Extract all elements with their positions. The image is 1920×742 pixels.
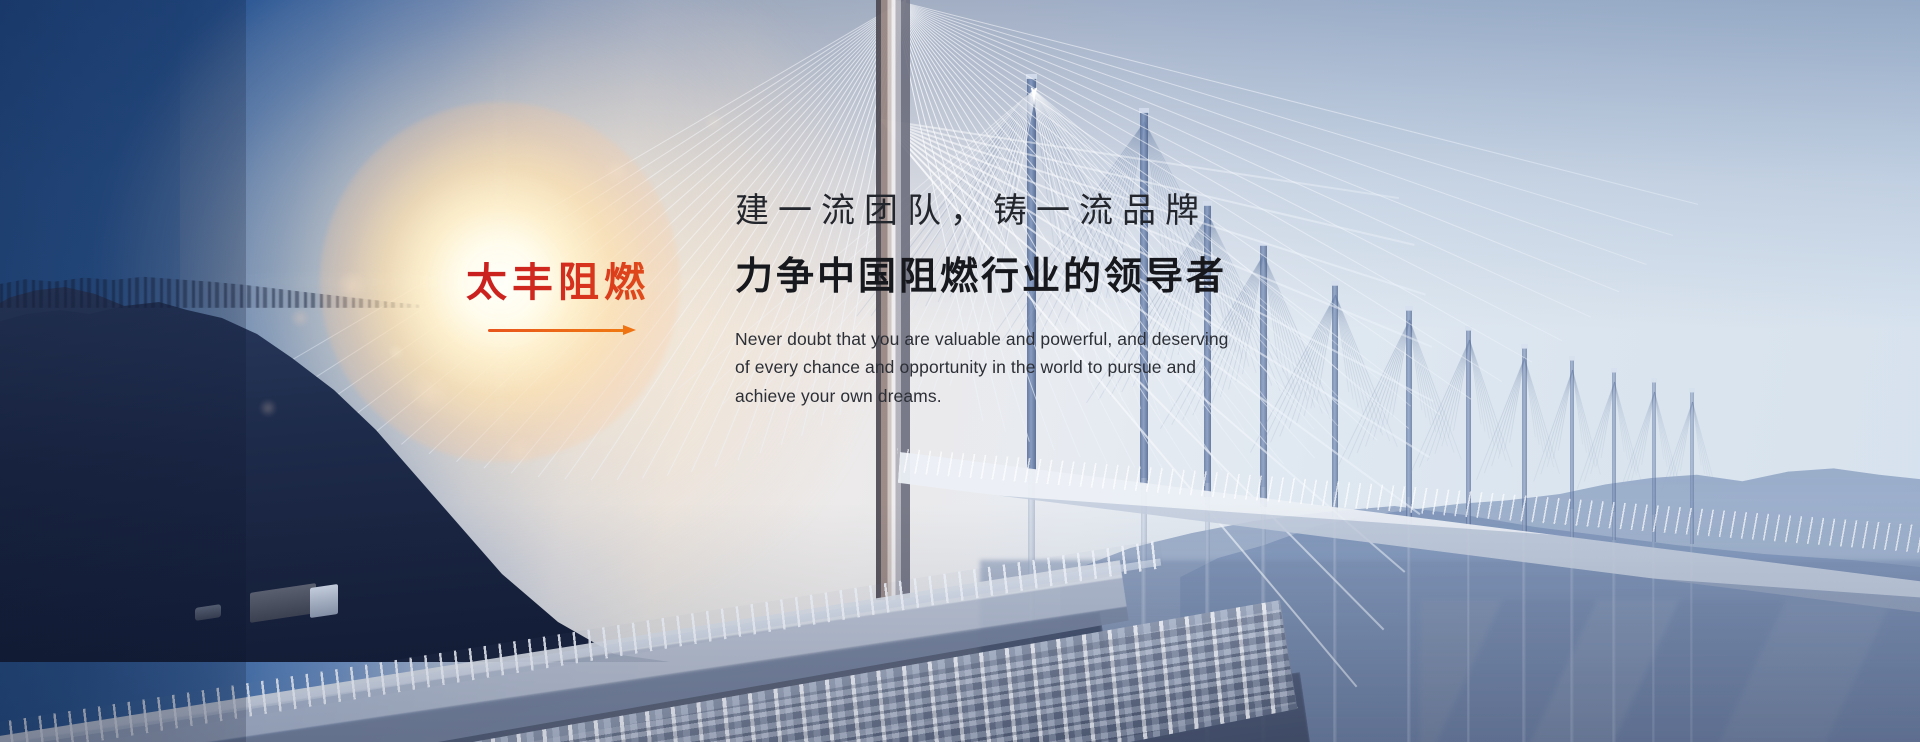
- arrow-shaft: [488, 329, 628, 332]
- hero-banner: 太丰阻燃 建一流团队，铸一流品牌 力争中国阻燃行业的领导者 Never doub…: [0, 0, 1920, 742]
- brand-logo[interactable]: 太丰阻燃: [466, 262, 686, 335]
- headline-secondary: 力争中国阻燃行业的领导者: [735, 254, 1229, 300]
- brand-logo-text: 太丰阻燃: [466, 262, 686, 303]
- banner-content: 太丰阻燃 建一流团队，铸一流品牌 力争中国阻燃行业的领导者 Never doub…: [0, 0, 1920, 742]
- arrow-head: [623, 325, 636, 335]
- banner-copy: 建一流团队，铸一流品牌 力争中国阻燃行业的领导者 Never doubt tha…: [735, 190, 1229, 410]
- subcopy-line: of every chance and opportunity in the w…: [735, 353, 1229, 381]
- subcopy-line: achieve your own dreams.: [735, 382, 1229, 410]
- arrow-right-icon: [488, 325, 636, 335]
- headline-primary: 建一流团队，铸一流品牌: [735, 190, 1229, 233]
- subcopy-line: Never doubt that you are valuable and po…: [735, 325, 1229, 353]
- subcopy: Never doubt that you are valuable and po…: [735, 325, 1229, 410]
